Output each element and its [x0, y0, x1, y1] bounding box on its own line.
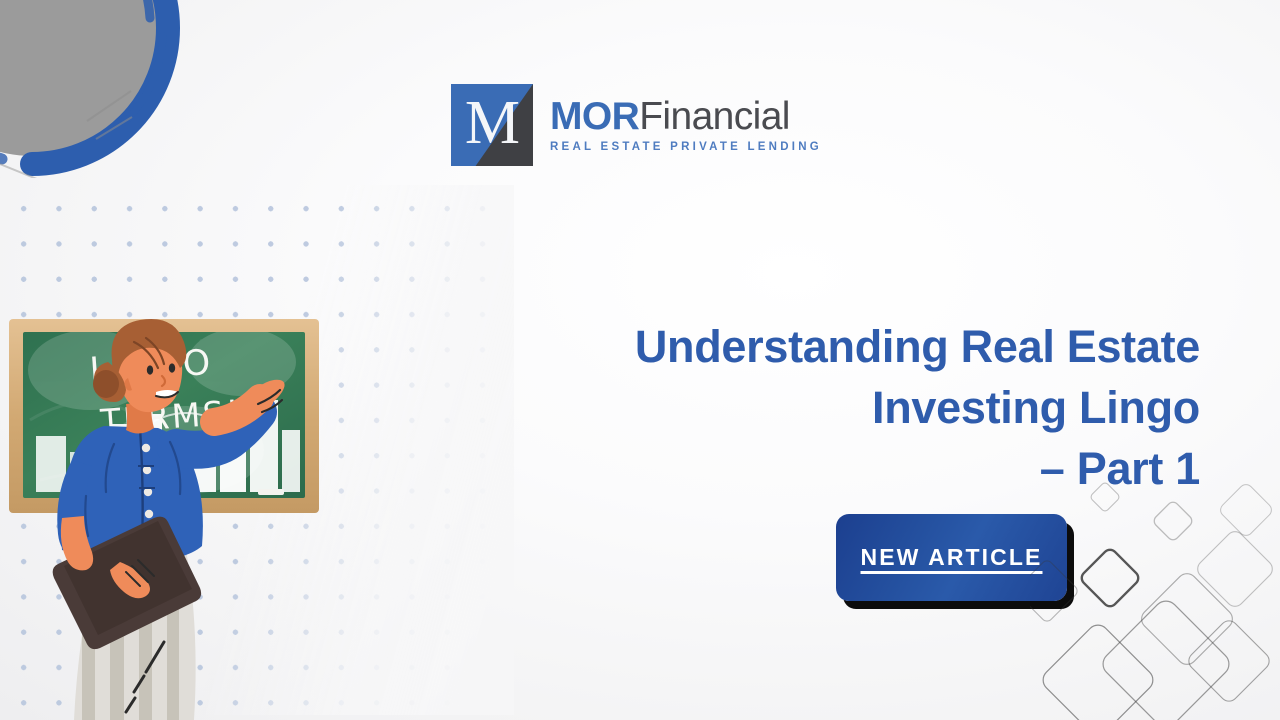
corner-circle-decoration	[0, 0, 182, 178]
chalk-piece	[258, 489, 284, 495]
logo-word-row: MORFinancial	[550, 97, 822, 137]
title-line-3: – Part 1	[560, 438, 1200, 499]
logo-wordmark: MORFinancial REAL ESTATE PRIVATE LENDING	[550, 84, 822, 166]
promo-graphic-canvas: M MORFinancial REAL ESTATE PRIVATE LENDI…	[0, 0, 1280, 720]
teacher-chalkboard-illustration: LINGO TERMS!	[0, 300, 520, 720]
new-article-button-label: NEW ARTICLE	[861, 544, 1043, 571]
title-line-2: Investing Lingo	[560, 377, 1200, 438]
logo-mark-letter: M	[451, 84, 533, 166]
cta-container: NEW ARTICLE	[836, 514, 1067, 601]
logo-word-primary: MOR	[550, 95, 639, 138]
diamond-pattern-decoration	[1030, 480, 1280, 720]
logo-tagline: REAL ESTATE PRIVATE LENDING	[550, 141, 822, 153]
title-line-1: Understanding Real Estate	[560, 316, 1200, 377]
brand-logo[interactable]: M MORFinancial REAL ESTATE PRIVATE LENDI…	[451, 84, 822, 166]
logo-mark-icon: M	[451, 84, 533, 166]
new-article-button[interactable]: NEW ARTICLE	[836, 514, 1067, 601]
logo-word-secondary: Financial	[639, 95, 790, 138]
page-title: Understanding Real Estate Investing Ling…	[560, 316, 1200, 500]
